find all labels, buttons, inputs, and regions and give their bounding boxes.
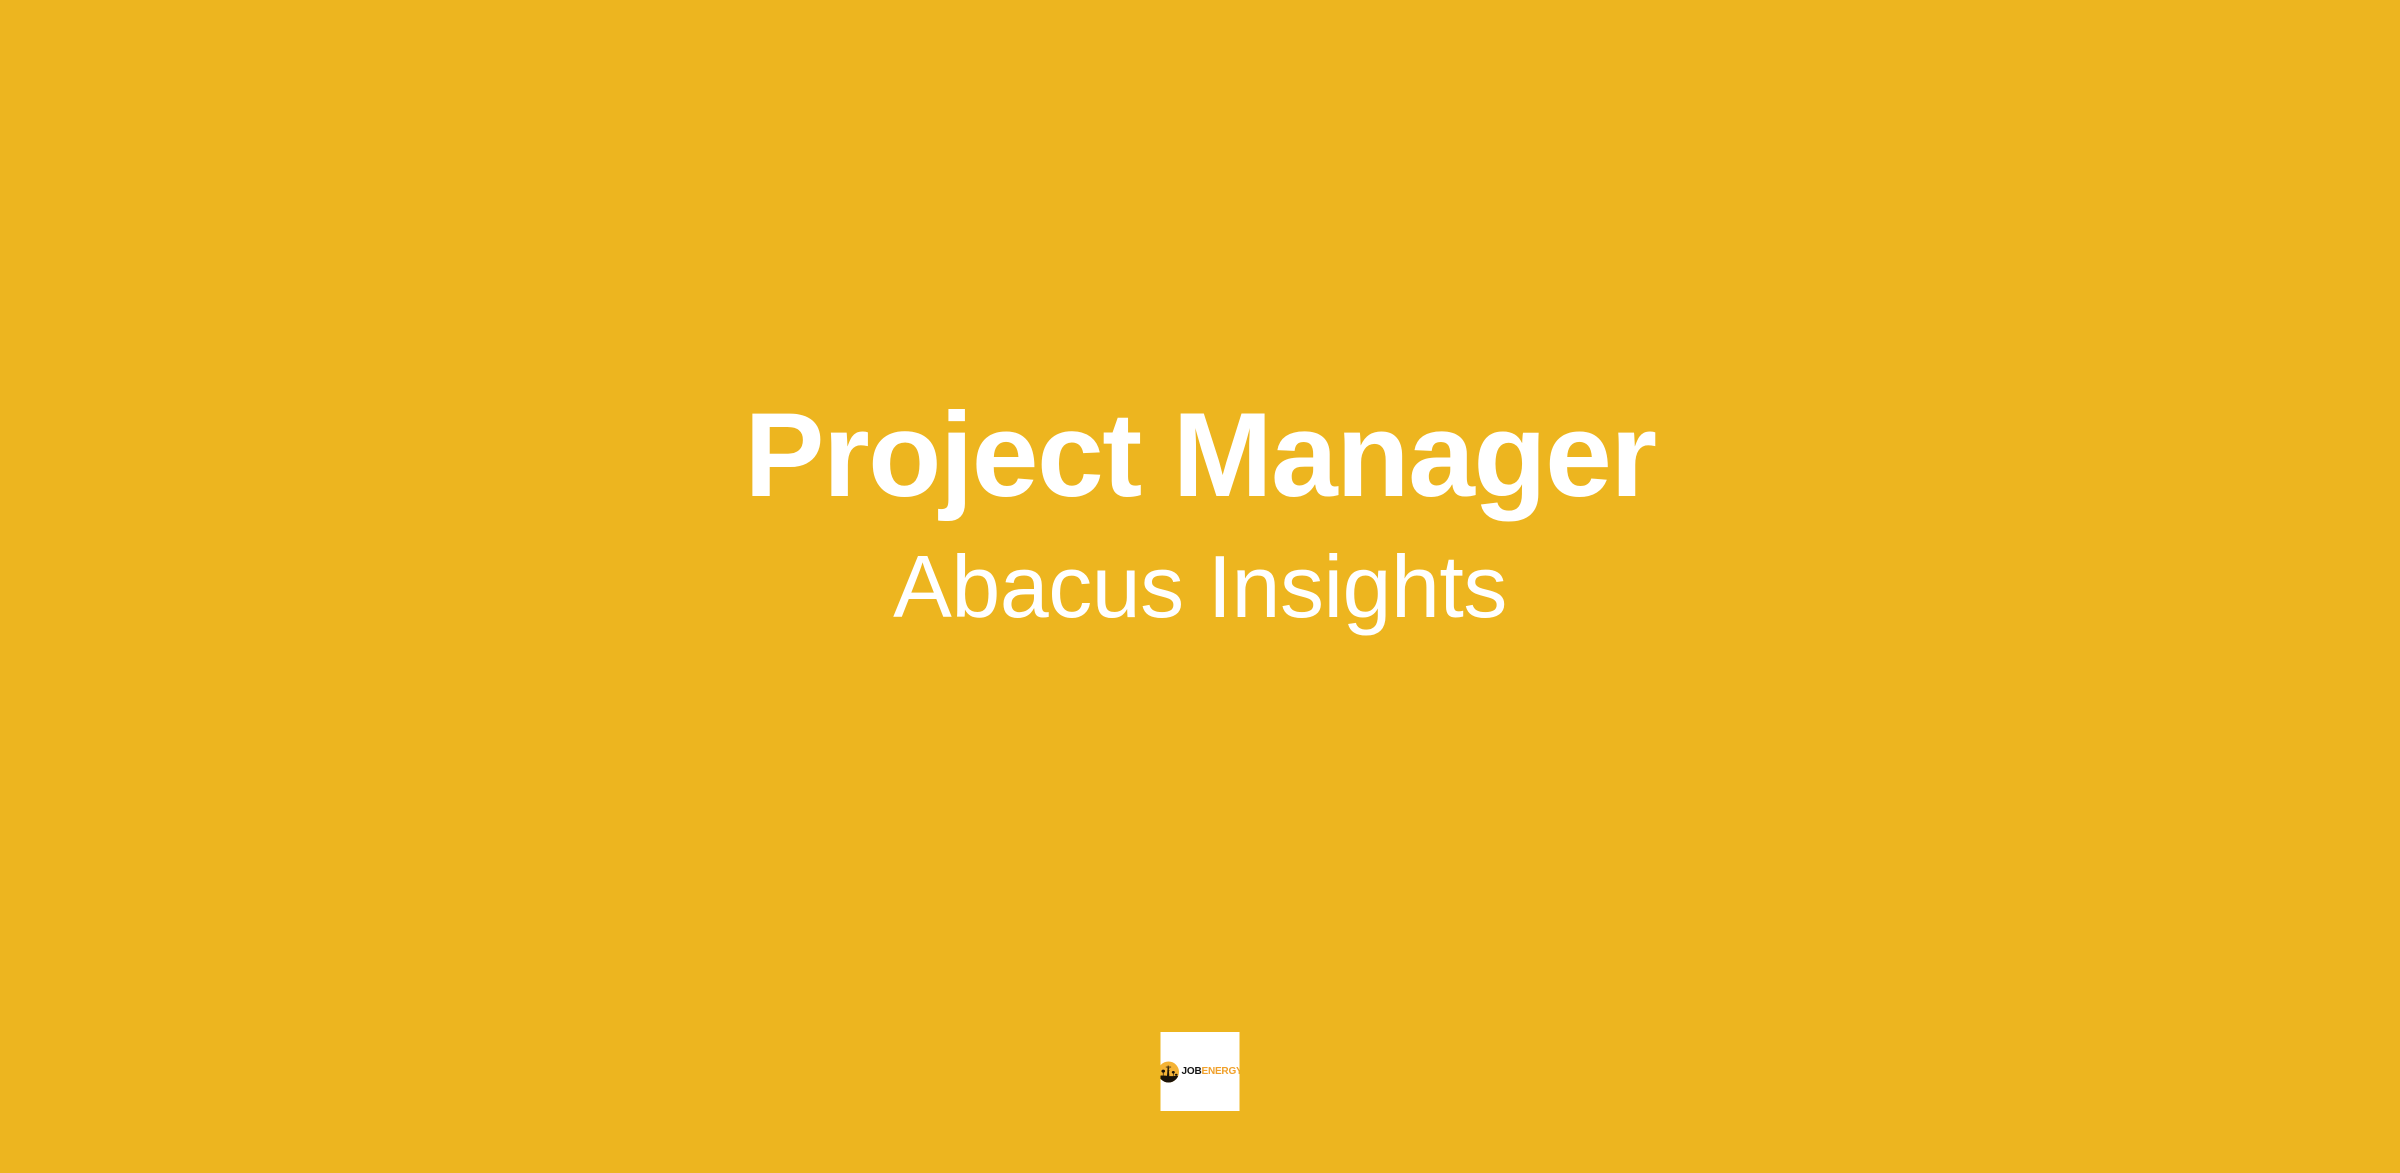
- page-title: Project Manager: [0, 395, 2400, 515]
- wordmark-energy: ENERGY: [1201, 1066, 1239, 1077]
- jobenergy-logo-lockup: JOBENERGY: [1161, 1061, 1240, 1083]
- job-hero-block: Project Manager Abacus Insights: [0, 395, 2400, 631]
- jobenergy-wordmark: JOBENERGY: [1182, 1067, 1240, 1077]
- job-posting-card: Project Manager Abacus Insights: [0, 0, 2400, 1173]
- wordmark-job: JOB: [1182, 1066, 1202, 1077]
- jobenergy-sun-derrick-icon: [1161, 1061, 1180, 1083]
- company-name: Abacus Insights: [0, 543, 2400, 631]
- company-logo-card[interactable]: JOBENERGY: [1161, 1032, 1240, 1111]
